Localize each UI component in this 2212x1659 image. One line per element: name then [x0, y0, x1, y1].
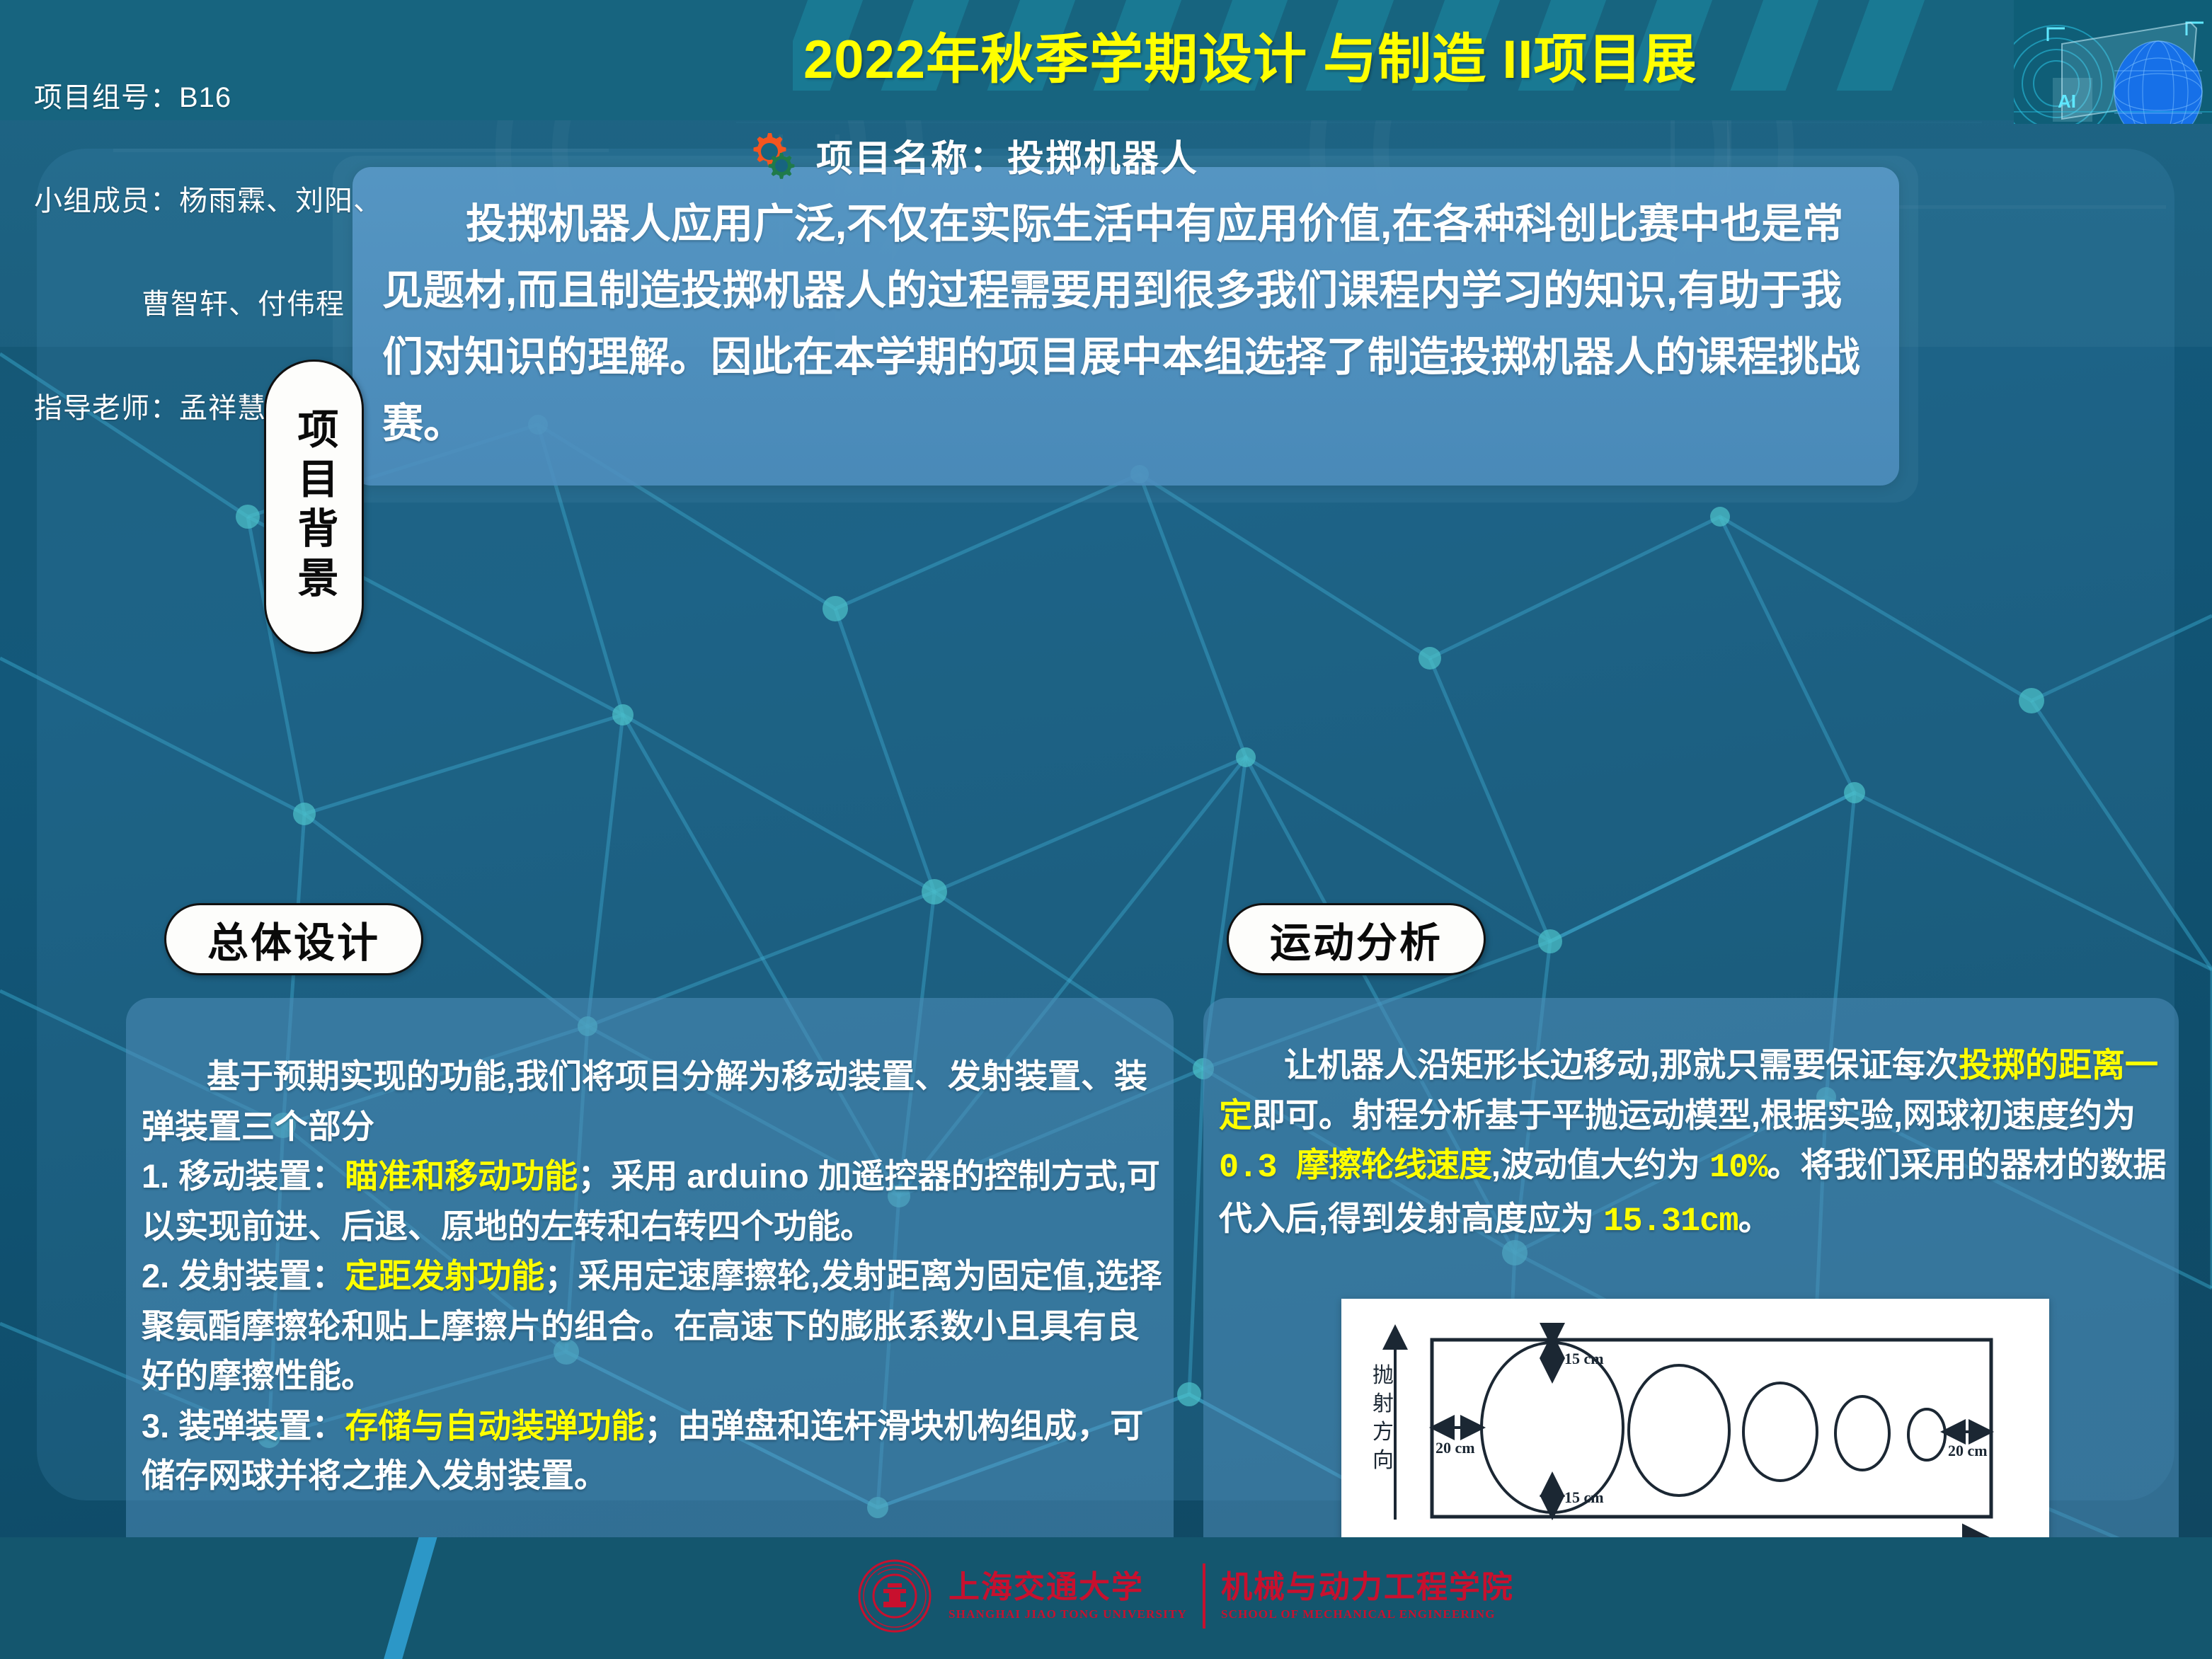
gear-icon: [747, 130, 798, 181]
project-name-text: 项目名称：投掷机器人: [816, 129, 1198, 182]
overall-design-item-3-number: 3.: [142, 1407, 169, 1445]
motion-analysis-part5: 。: [1738, 1200, 1772, 1237]
university-name-en: SHANGHAI JIAO TONG UNIVERSITY: [949, 1608, 1187, 1621]
diagram-dim-left: 20 cm: [1435, 1439, 1475, 1457]
footer-slash-decoration: [366, 1537, 445, 1659]
diagram-dim-bottom: 15 cm: [1564, 1488, 1604, 1506]
members-value-2: 曹智轩、付伟程: [142, 289, 345, 320]
advisor-line: 指导老师：孟祥慧: [34, 391, 382, 426]
overall-design-pill: 总体设计: [164, 903, 423, 975]
university-name-block: 上海交通大学 SHANGHAI JIAO TONG UNIVERSITY: [949, 1571, 1187, 1621]
project-background-paragraph: 投掷机器人应用广泛,不仅在实际生活中有应用价值,在各种科创比赛中也是常见题材,而…: [382, 191, 1869, 457]
overall-design-item-1-highlight: 瞄准和移动功能: [345, 1157, 578, 1195]
motion-analysis-hl2: 0.3 摩擦轮线速度: [1219, 1149, 1491, 1187]
logo-separator: [1203, 1563, 1205, 1629]
motion-analysis-pill: 运动分析: [1227, 903, 1486, 975]
diagram-dim-right: 20 cm: [1948, 1442, 1988, 1459]
overall-design-intro: 基于预期实现的功能,我们将项目分解为移动装置、发射装置、装弹装置三个部分: [142, 1057, 1147, 1145]
overall-design-item-1-name: 移动装置：: [178, 1157, 345, 1195]
overall-design-item-1-number: 1.: [142, 1157, 169, 1195]
members-label: 小组成员：: [34, 185, 179, 217]
project-group-value: B16: [179, 82, 231, 113]
sjtu-logo: 上海交通大学 SHANGHAI JIAO TONG UNIVERSITY 机械与…: [856, 1550, 1514, 1642]
members-line-2: 曹智轩、付伟程: [34, 287, 382, 322]
svg-text:射: 射: [1373, 1392, 1394, 1416]
project-name-row: 项目名称：投掷机器人: [747, 129, 1198, 182]
overall-design-pill-label: 总体设计: [207, 909, 380, 969]
motion-analysis-part3: ,波动值大约为: [1491, 1146, 1709, 1183]
motion-analysis-hl3: 10%: [1709, 1149, 1767, 1187]
project-group-label: 项目组号：: [34, 82, 179, 113]
team-meta-block: 项目组号：B16 小组成员：杨雨霖、刘阳、 曹智轩、付伟程 指导老师：孟祥慧: [34, 11, 382, 495]
svg-text:向: 向: [1373, 1449, 1394, 1472]
svg-text:方: 方: [1373, 1420, 1394, 1444]
university-name-cn: 上海交通大学: [949, 1571, 1187, 1604]
trajectory-diagram: 抛 射 方 向: [1341, 1299, 2049, 1575]
diagram-dim-top: 15 cm: [1564, 1350, 1604, 1367]
poster-footer: 上海交通大学 SHANGHAI JIAO TONG UNIVERSITY 机械与…: [0, 1537, 2212, 1659]
school-name-block: 机械与动力工程学院 SCHOOL OF MECHANICAL ENGINEERI…: [1221, 1571, 1514, 1621]
project-background-text: 投掷机器人应用广泛,不仅在实际生活中有应用价值,在各种科创比赛中也是常见题材,而…: [382, 201, 1860, 447]
motion-analysis-hl4: 15.31cm: [1603, 1203, 1738, 1241]
poster-title: 2022年秋季学期设计 与制造 II项目展: [803, 16, 1697, 93]
school-name-cn: 机械与动力工程学院: [1221, 1571, 1514, 1604]
poster-root: 投掷机器人应用广泛,不仅在实际生活中有应用价值,在各种科创比赛中也是常见题材,而…: [0, 0, 2212, 1659]
logo-text-block: 上海交通大学 SHANGHAI JIAO TONG UNIVERSITY 机械与…: [949, 1563, 1514, 1629]
motion-analysis-body: 让机器人沿矩形长边移动,那就只需要保证每次投掷的距离一定即可。射程分析基于平抛运…: [1219, 1040, 2167, 1247]
school-name-en: SCHOOL OF MECHANICAL ENGINEERING: [1221, 1608, 1514, 1621]
university-seal-icon: [856, 1558, 933, 1634]
overall-design-item-2-name: 发射装置：: [178, 1257, 345, 1295]
members-value-1: 杨雨霖、刘阳、: [179, 185, 382, 217]
overall-design-item-2-number: 2.: [142, 1257, 169, 1295]
overall-design-item-3-highlight: 存储与自动装弹功能: [345, 1407, 644, 1445]
overall-design-body: 基于预期实现的功能,我们将项目分解为移动装置、发射装置、装弹装置三个部分 1. …: [142, 1052, 1168, 1501]
diagram-y-axis-label: 抛: [1373, 1364, 1394, 1387]
motion-analysis-pill-label: 运动分析: [1270, 909, 1443, 969]
svg-text:AI: AI: [2058, 91, 2076, 112]
project-group-line: 项目组号：B16: [34, 81, 382, 115]
ai-face-scan-icon: AI: [2014, 0, 2212, 124]
advisor-value: 孟祥慧: [179, 393, 266, 424]
overall-design-item-2-highlight: 定距发射功能: [345, 1257, 544, 1295]
motion-analysis-part2: 即可。射程分析基于平抛运动模型,根据实验,网球初速度约为: [1252, 1096, 2136, 1134]
members-line-1: 小组成员：杨雨霖、刘阳、: [34, 184, 382, 219]
overall-design-item-3-name: 装弹装置：: [178, 1407, 345, 1445]
advisor-label: 指导老师：: [34, 393, 179, 424]
motion-analysis-part1: 让机器人沿矩形长边移动,那就只需要保证每次: [1284, 1046, 1959, 1084]
